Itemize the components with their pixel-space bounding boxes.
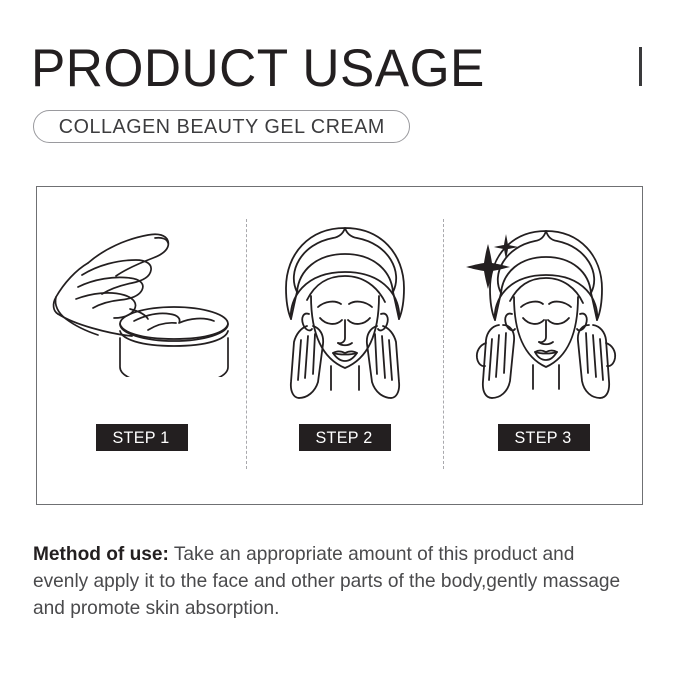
step-column-3: STEP 3 bbox=[443, 187, 644, 504]
face-applying-cream-with-hands-icon bbox=[265, 222, 425, 402]
method-of-use-text: Method of use: Take an appropriate amoun… bbox=[33, 541, 621, 622]
title-accent-rule bbox=[639, 47, 642, 86]
page-title: PRODUCT USAGE bbox=[31, 40, 485, 98]
step-badge-1: STEP 1 bbox=[96, 424, 188, 451]
subtitle-label: COLLAGEN BEAUTY GEL CREAM bbox=[58, 115, 384, 139]
method-of-use-label: Method of use: bbox=[33, 543, 169, 565]
step-badge-label-2: STEP 2 bbox=[316, 428, 373, 448]
step-badge-3: STEP 3 bbox=[498, 424, 590, 451]
step-badge-2: STEP 2 bbox=[299, 424, 391, 451]
step-badge-label-3: STEP 3 bbox=[515, 428, 572, 448]
subtitle-pill: COLLAGEN BEAUTY GEL CREAM bbox=[33, 110, 410, 143]
face-with-open-palms-and-sparkles-icon bbox=[454, 217, 634, 407]
step-badge-label-1: STEP 1 bbox=[113, 428, 170, 448]
step-column-1: STEP 1 bbox=[37, 187, 246, 504]
step-column-2: STEP 2 bbox=[246, 187, 443, 504]
steps-panel: STEP 1 bbox=[36, 186, 643, 505]
hand-dipping-into-cream-jar-icon bbox=[52, 227, 232, 377]
product-usage-infographic: PRODUCT USAGE COLLAGEN BEAUTY GEL CREAM bbox=[0, 0, 679, 679]
